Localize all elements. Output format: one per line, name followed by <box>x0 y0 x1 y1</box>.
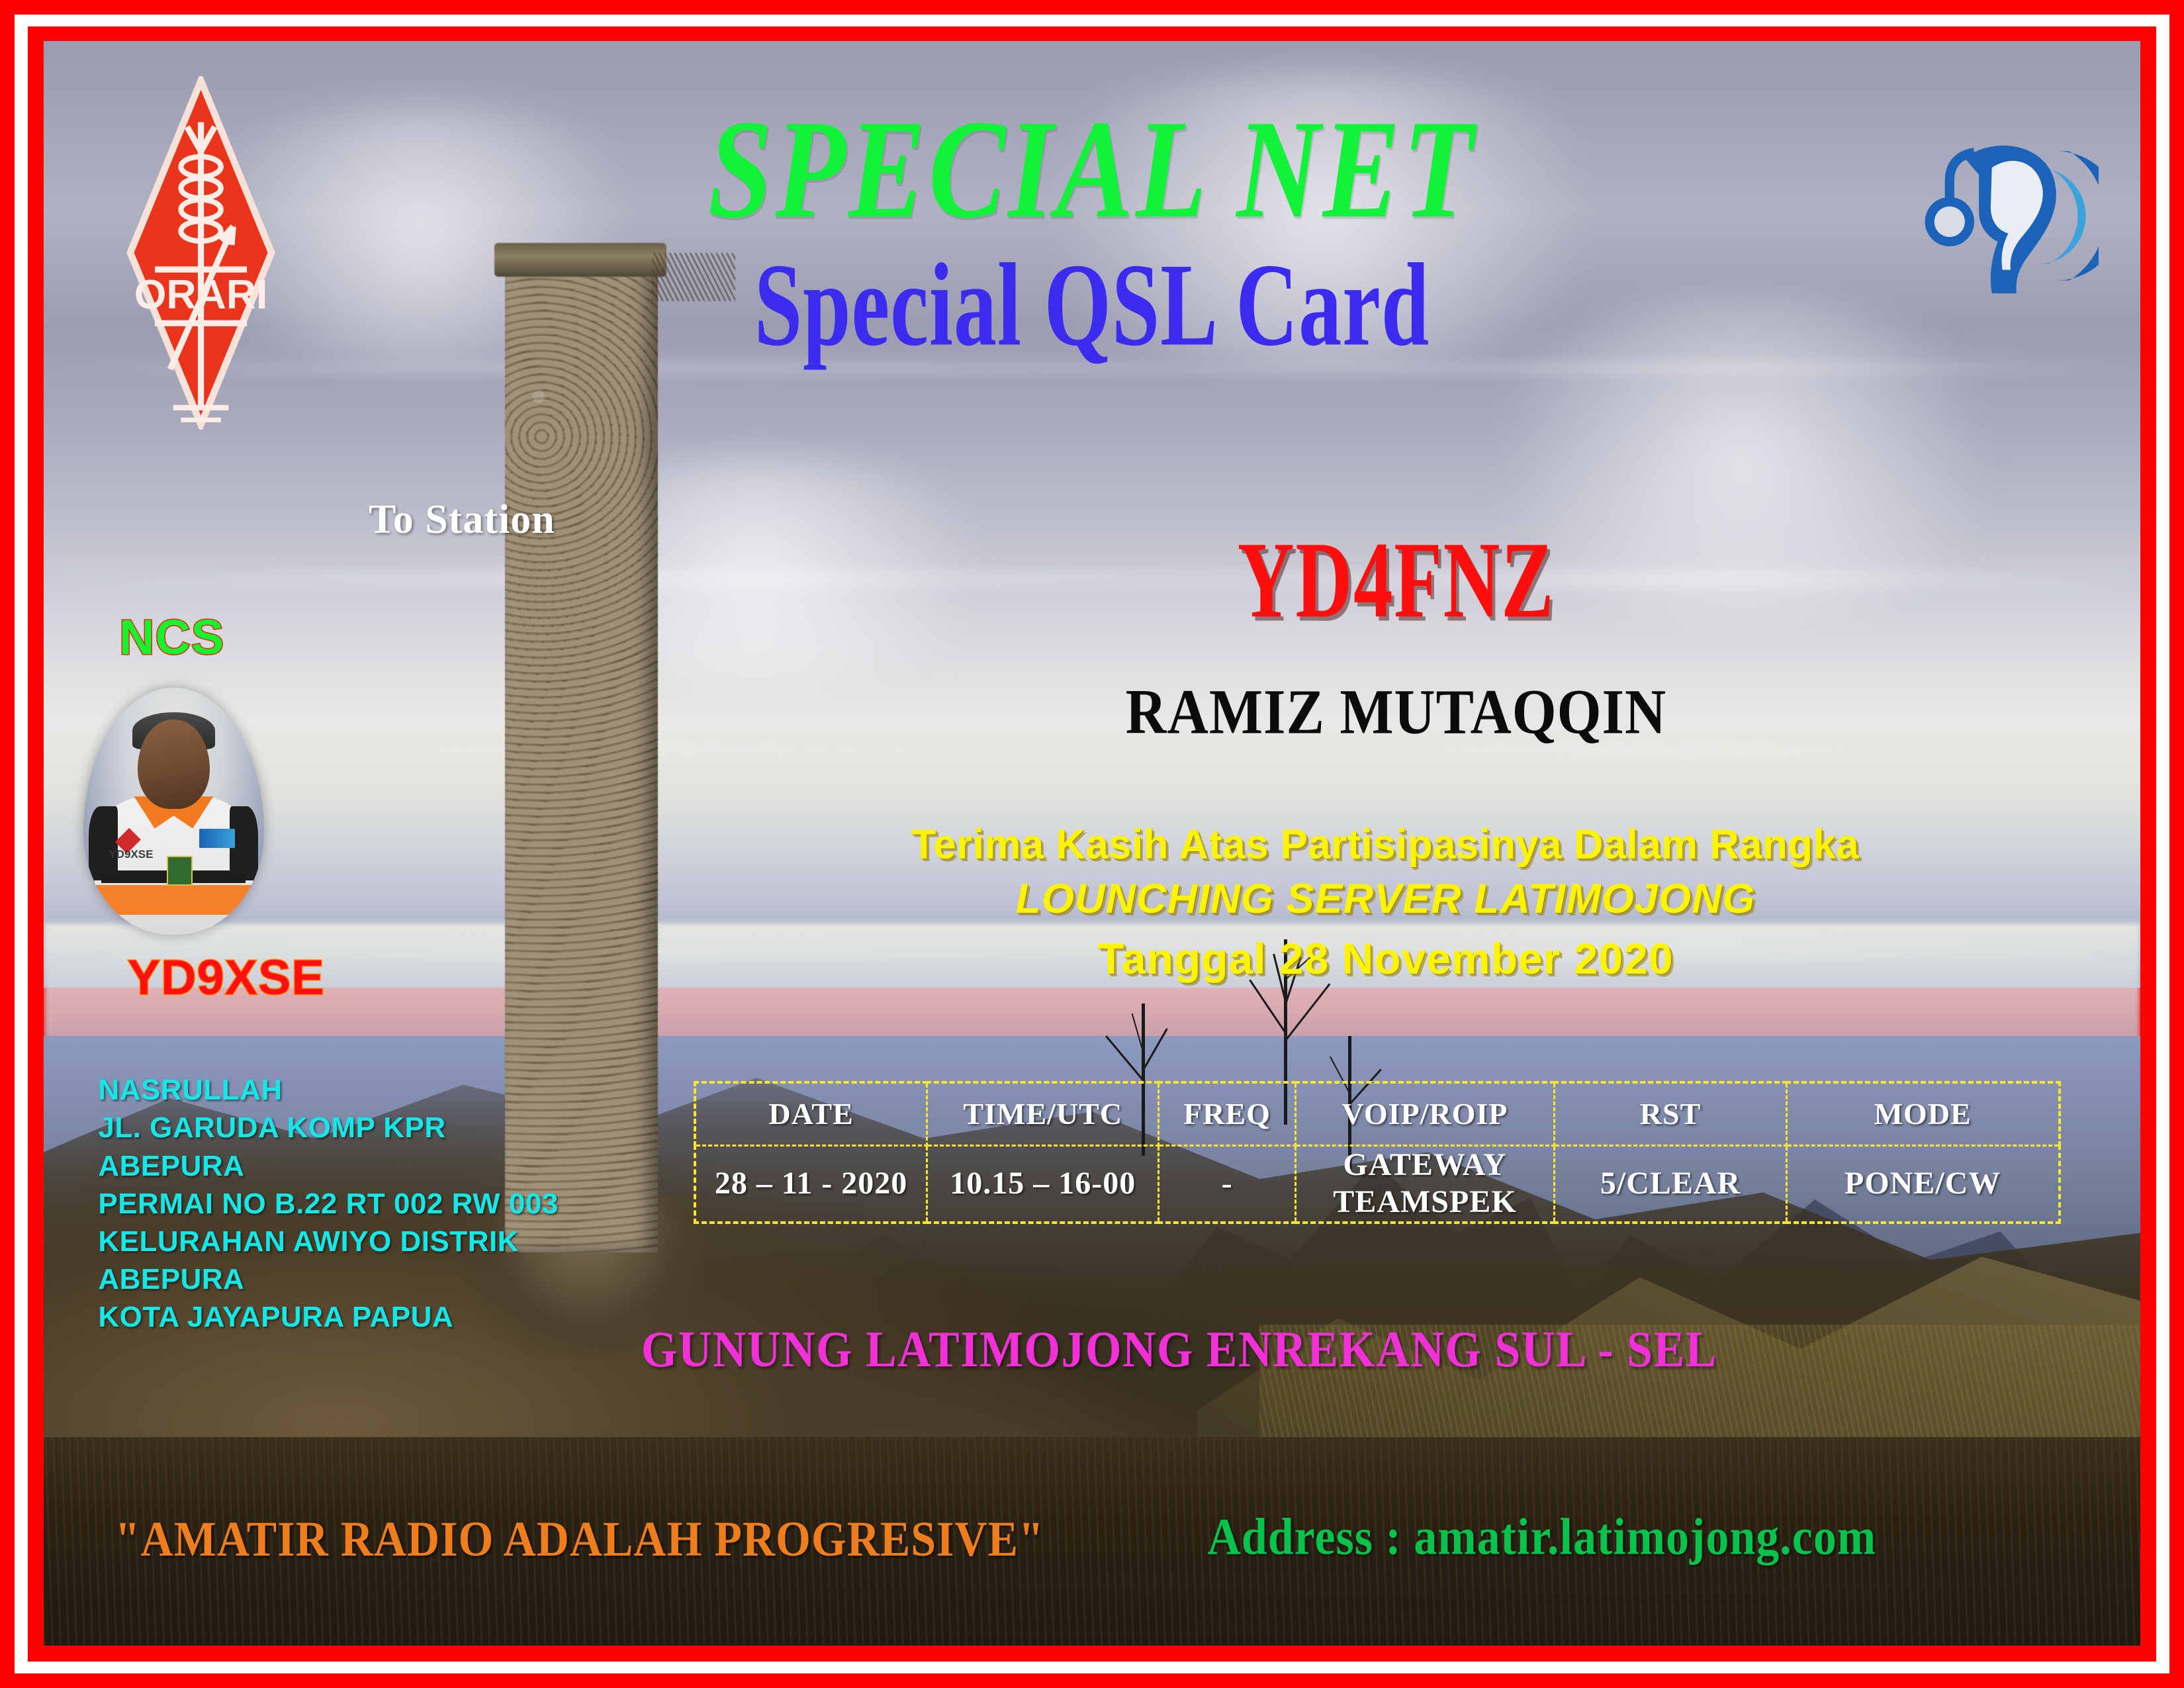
column-header-time: TIME/UTC <box>927 1082 1159 1146</box>
column-header-rst: RST <box>1555 1082 1786 1146</box>
ncs-label: NCS <box>119 609 224 665</box>
qsl-card-photo-canvas: ORARI SPECIAL NET <box>44 41 2140 1646</box>
column-header-mode: MODE <box>1786 1082 2059 1146</box>
footer-motto: "AMATIR RADIO ADALAH PROGRESIVE" <box>115 1511 1044 1568</box>
qso-log-table: DATE TIME/UTC FREQ VOIP/ROIP RST MODE 28… <box>694 1081 2061 1224</box>
to-station-operator-name: RAMIZ MUTAQQIN <box>841 675 1952 749</box>
to-station-label: To Station <box>369 496 555 543</box>
address-line: PERMAI NO B.22 RT 002 RW 003 <box>98 1185 558 1223</box>
avatar-face <box>138 720 210 808</box>
avatar-shoulder-left <box>89 806 118 880</box>
column-header-voip-roip: VOIP/ROIP <box>1295 1082 1555 1146</box>
table-row: 28 – 11 - 2020 10.15 – 16-00 - GATEWAY T… <box>695 1145 2060 1223</box>
address-line: JL. GARUDA KOMP KPR <box>98 1109 558 1147</box>
address-line: ABEPURA <box>98 1147 558 1185</box>
column-header-date: DATE <box>695 1082 927 1146</box>
cell-mode: PONE/CW <box>1786 1145 2059 1223</box>
page-subtitle-qsl-card: Special QSL Card <box>117 246 2067 365</box>
address-line: NASRULLAH <box>98 1071 558 1109</box>
qsl-card-outer-border: ORARI SPECIAL NET <box>0 0 2184 1688</box>
avatar-id-tag <box>167 856 193 886</box>
address-line: KELURAHAN AWIYO DISTRIK <box>98 1223 558 1260</box>
cell-time: 10.15 – 16-00 <box>927 1145 1159 1223</box>
cell-voip-roip: GATEWAY TEAMSPEK <box>1295 1145 1555 1223</box>
location-caption: GUNUNG LATIMOJONG ENREKANG SUL - SEL <box>641 1321 1717 1380</box>
table-header-row: DATE TIME/UTC FREQ VOIP/ROIP RST MODE <box>695 1082 2060 1146</box>
address-line: KOTA JAYAPURA PAPUA <box>98 1298 558 1336</box>
cell-rst: 5/CLEAR <box>1555 1145 1786 1223</box>
footer-website-address: Address : amatir.latimojong.com <box>1207 1508 1876 1568</box>
qsl-card-inner-border: ORARI SPECIAL NET <box>28 26 2156 1662</box>
cell-voip-line2: TEAMSPEK <box>1297 1184 1554 1221</box>
avatar-sash <box>95 885 253 915</box>
ncs-address-block: NASRULLAH JL. GARUDA KOMP KPR ABEPURA PE… <box>98 1071 558 1336</box>
cell-freq: - <box>1159 1145 1295 1223</box>
event-thanks-line: Terima Kasih Atas Partisipasinya Dalam R… <box>749 821 2023 868</box>
event-title-line: LOUNCHING SERVER LATIMOJONG <box>735 875 2035 923</box>
ncs-callsign: YD9XSE <box>128 949 325 1006</box>
event-date-line: Tanggal 28 November 2020 <box>735 933 2035 984</box>
column-header-freq: FREQ <box>1159 1082 1295 1146</box>
avatar-shirt-callsign: YD9XSE <box>109 848 153 861</box>
avatar-badge-club <box>199 829 235 849</box>
page-title-special-net: SPECIAL NET <box>44 99 2140 240</box>
to-station-callsign: YD4FNZ <box>896 516 1896 643</box>
qsl-card-white-gap: ORARI SPECIAL NET <box>15 15 2169 1673</box>
address-line: ABEPURA <box>98 1260 558 1298</box>
cell-voip-line1: GATEWAY <box>1297 1147 1554 1184</box>
cell-date: 28 – 11 - 2020 <box>695 1145 927 1223</box>
